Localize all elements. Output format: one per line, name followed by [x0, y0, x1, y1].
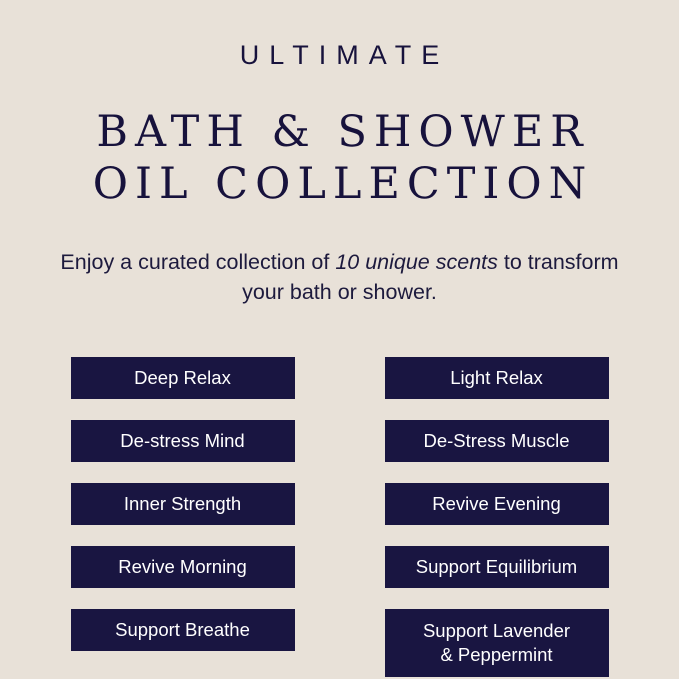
scent-column-left: Deep Relax De-stress Mind Inner Strength…	[71, 357, 295, 651]
headline-line-1: BATH & SHOWER	[86, 110, 594, 156]
scent-box[interactable]: Revive Evening	[385, 483, 609, 525]
scent-label: Support Equilibrium	[416, 555, 577, 579]
scent-column-right: Light Relax De-Stress Muscle Revive Even…	[385, 357, 609, 677]
scent-label: Inner Strength	[124, 492, 241, 516]
subtitle: Enjoy a curated collection of 10 unique …	[40, 247, 640, 307]
scent-box[interactable]: Support Lavender & Peppermint	[385, 609, 609, 677]
scent-label: Revive Evening	[432, 492, 561, 516]
scent-label: Deep Relax	[134, 366, 231, 390]
scent-box[interactable]: Support Equilibrium	[385, 546, 609, 588]
eyebrow-heading: ULTIMATE	[230, 42, 450, 69]
scent-grid: Deep Relax De-stress Mind Inner Strength…	[0, 357, 679, 677]
scent-label: Revive Morning	[118, 555, 247, 579]
scent-label: De-stress Mind	[120, 429, 244, 453]
scent-box[interactable]: Light Relax	[385, 357, 609, 399]
page-title: BATH & SHOWER OIL COLLECTION	[86, 90, 594, 207]
product-infographic: ULTIMATE BATH & SHOWER OIL COLLECTION En…	[0, 0, 679, 679]
scent-label: De-Stress Muscle	[424, 429, 570, 453]
scent-box[interactable]: De-Stress Muscle	[385, 420, 609, 462]
scent-box[interactable]: Revive Morning	[71, 546, 295, 588]
scent-box[interactable]: Support Breathe	[71, 609, 295, 651]
subtitle-text-before: Enjoy a curated collection of	[60, 250, 335, 274]
scent-label: Support Breathe	[115, 618, 250, 642]
headline-line-2: OIL COLLECTION	[86, 162, 594, 208]
scent-label: Support Lavender & Peppermint	[423, 619, 570, 666]
scent-box[interactable]: Deep Relax	[71, 357, 295, 399]
scent-label: Light Relax	[450, 366, 543, 390]
scent-box[interactable]: Inner Strength	[71, 483, 295, 525]
scent-box[interactable]: De-stress Mind	[71, 420, 295, 462]
subtitle-emphasis: 10 unique scents	[335, 250, 498, 274]
